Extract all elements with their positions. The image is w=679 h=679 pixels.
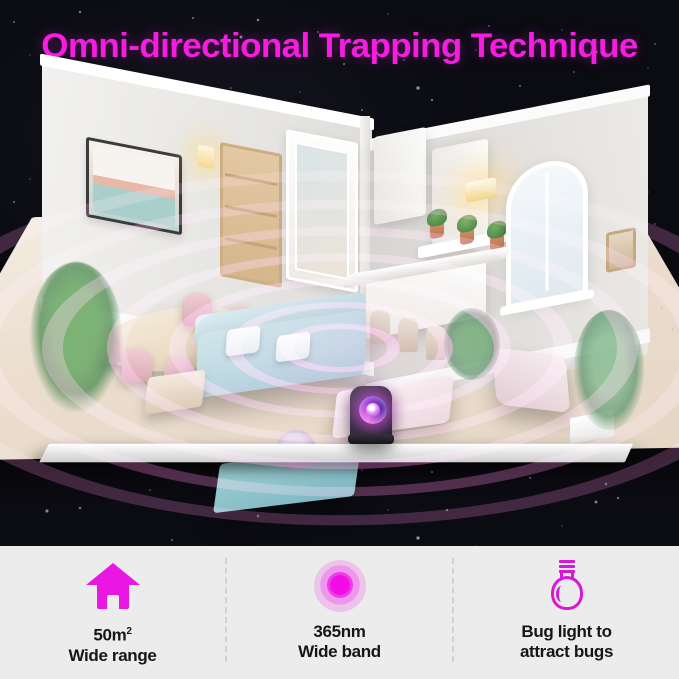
feature-bug-light: Bug light to attract bugs xyxy=(454,546,679,679)
bar-stool xyxy=(398,318,418,352)
page-title: Omni-directional Trapping Technique xyxy=(0,26,679,66)
feature-wide-band: 365nm Wide band xyxy=(227,546,452,679)
device-base xyxy=(348,434,394,444)
feature-label: 50m2 Wide range xyxy=(69,622,157,666)
feature-wide-range: 50m2 Wide range xyxy=(0,546,225,679)
mid-floor-plant xyxy=(444,308,500,380)
bar-stool xyxy=(426,326,446,360)
feature-caption: Wide range xyxy=(69,646,157,666)
sofa-cushion xyxy=(225,325,261,356)
starfield-hero: Omni-directional Trapping Technique xyxy=(0,0,679,546)
dining-chair xyxy=(122,348,152,382)
feature-bar: 50m2 Wide range 365nm Wide band xyxy=(0,546,679,679)
house-icon xyxy=(86,559,140,613)
armchair xyxy=(492,347,570,413)
wall-sconce-left xyxy=(198,144,214,169)
glow-circle-icon xyxy=(314,559,366,613)
right-floor-plant xyxy=(574,310,644,430)
room-scene xyxy=(14,84,666,524)
sofa-cushion xyxy=(275,331,311,362)
feature-value: 365nm xyxy=(313,622,365,641)
feature-label: Bug light to attract bugs xyxy=(520,622,613,662)
bar-stool xyxy=(370,310,390,344)
light-bulb-icon xyxy=(544,559,590,613)
feature-caption: attract bugs xyxy=(520,642,613,662)
room-base-slab xyxy=(39,444,633,463)
feature-caption: Wide band xyxy=(298,642,381,662)
feature-label: 365nm Wide band xyxy=(298,622,381,662)
glass-front-cabinet xyxy=(286,129,358,293)
small-wall-frame xyxy=(606,227,636,273)
arched-window xyxy=(506,154,588,310)
isometric-room xyxy=(14,84,666,524)
bug-zapper-device xyxy=(346,380,396,446)
product-feature-image: Omni-directional Trapping Technique xyxy=(0,0,679,679)
feature-value: 50m xyxy=(93,626,126,645)
artwork-canvas xyxy=(93,145,175,227)
uv-light-icon xyxy=(359,396,387,424)
large-floor-plant xyxy=(30,262,122,412)
feature-value: Bug light to xyxy=(521,622,611,641)
wooden-shelf-unit xyxy=(220,142,282,288)
upper-cabinet-left xyxy=(374,127,426,225)
feature-superscript: 2 xyxy=(126,626,131,637)
